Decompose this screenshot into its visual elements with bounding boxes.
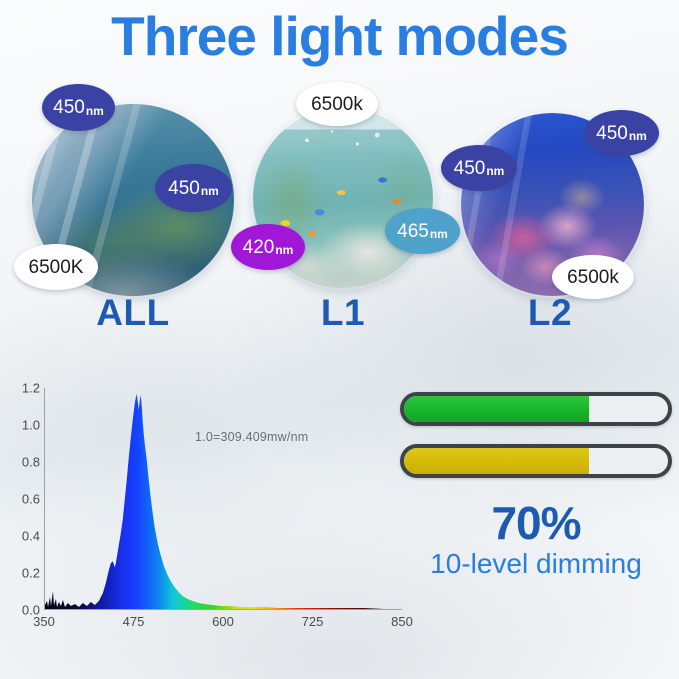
y-tick-1.2: 1.2: [22, 381, 40, 396]
dimming-bar-yellow[interactable]: [400, 444, 672, 478]
x-tick-350: 350: [33, 614, 55, 629]
page-title: Three light modes: [0, 8, 679, 66]
x-axis-labels: 350475600725850: [44, 614, 402, 634]
x-tick-475: 475: [123, 614, 145, 629]
y-axis-labels: 1.21.00.80.60.40.20.0: [8, 388, 40, 610]
chart-plot-area: 1.0=309.409mw/nm: [44, 388, 402, 610]
x-tick-725: 725: [302, 614, 324, 629]
dimming-panel: 70% 10-level dimming: [400, 392, 672, 580]
chart-annotation: 1.0=309.409mw/nm: [195, 430, 308, 444]
mode-label-all: ALL: [33, 292, 233, 334]
badge-450nm-all-right: 450nm: [155, 164, 232, 212]
badge-420nm-l1: 420nm: [231, 224, 305, 270]
x-tick-850: 850: [391, 614, 413, 629]
badge-465nm-l1: 465nm: [385, 208, 460, 254]
badge-450nm-l2-left: 450nm: [441, 145, 517, 191]
badge-450nm-all-top: 450nm: [42, 84, 115, 131]
dimming-bar-green-fill: [404, 396, 589, 422]
dimming-bar-yellow-fill: [404, 448, 589, 474]
spectrum-chart: 1.21.00.80.60.40.20.0: [8, 388, 408, 638]
y-tick-0.6: 0.6: [22, 492, 40, 507]
y-tick-0.2: 0.2: [22, 566, 40, 581]
spectral-curve-svg: [45, 388, 402, 609]
x-tick-600: 600: [212, 614, 234, 629]
badge-450nm-l2-top: 450nm: [584, 110, 659, 156]
badge-6500k-l1: 6500k: [296, 82, 378, 126]
mode-label-l2: L2: [450, 292, 650, 334]
mode-label-l1: L1: [243, 292, 443, 334]
spectral-curve: [45, 388, 402, 609]
spectral-area: [45, 394, 402, 609]
y-tick-0.8: 0.8: [22, 455, 40, 470]
y-tick-1.0: 1.0: [22, 418, 40, 433]
y-tick-0.4: 0.4: [22, 529, 40, 544]
dimming-caption: 10-level dimming: [400, 548, 672, 580]
dimming-percent: 70%: [400, 496, 672, 550]
dimming-bar-green[interactable]: [400, 392, 672, 426]
badge-6500k-all: 6500K: [14, 244, 98, 290]
infographic-canvas: Three light modes 450nm 450nm 6500K ALL …: [0, 0, 679, 679]
